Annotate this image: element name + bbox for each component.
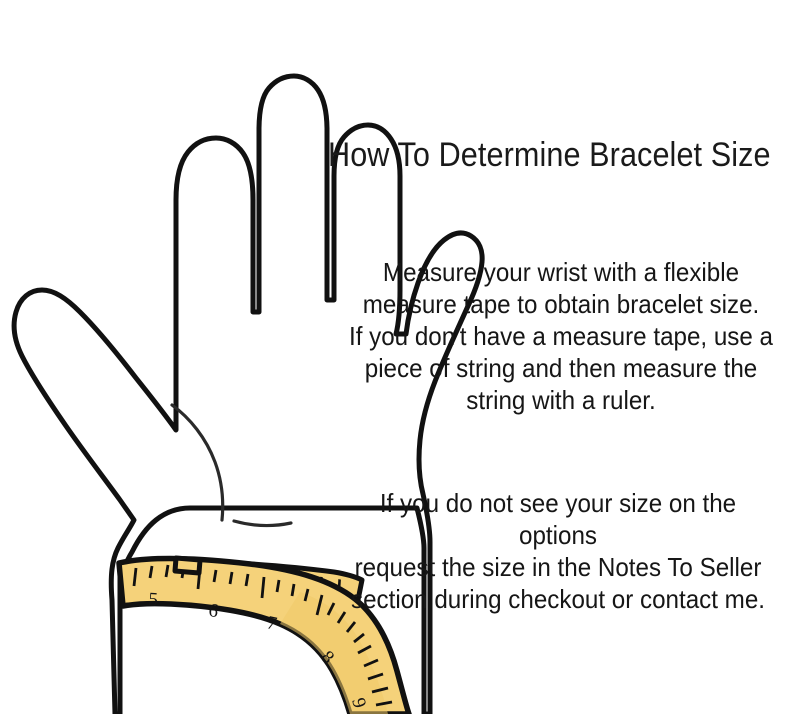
instructions-line: piece of string and then measure the [346, 352, 776, 384]
tape-number-6: 6 [207, 600, 219, 622]
instructions-line: Measure your wrist with a flexible [346, 256, 776, 288]
page-title: How To Determine Bracelet Size [328, 136, 747, 174]
instructions-line: If you don't have a measure tape, use a [346, 320, 776, 352]
note-line: request the size in the Notes To Seller [339, 551, 778, 583]
instructions-paragraph: Measure your wrist with a flexible measu… [330, 256, 792, 416]
note-paragraph: If you do not see your size on the optio… [322, 487, 794, 615]
tape-overlap-tab [175, 558, 200, 573]
bracelet-size-guide-image: 5 6 7 8 9 How To Determine Bracelet Size… [0, 0, 800, 714]
instructions-line: measure tape to obtain bracelet size. [346, 288, 776, 320]
note-line: If you do not see your size on the optio… [339, 487, 778, 551]
instructions-line: string with a ruler. [346, 384, 776, 416]
note-line: section during checkout or contact me. [339, 583, 778, 615]
tape-number-5: 5 [148, 589, 159, 611]
